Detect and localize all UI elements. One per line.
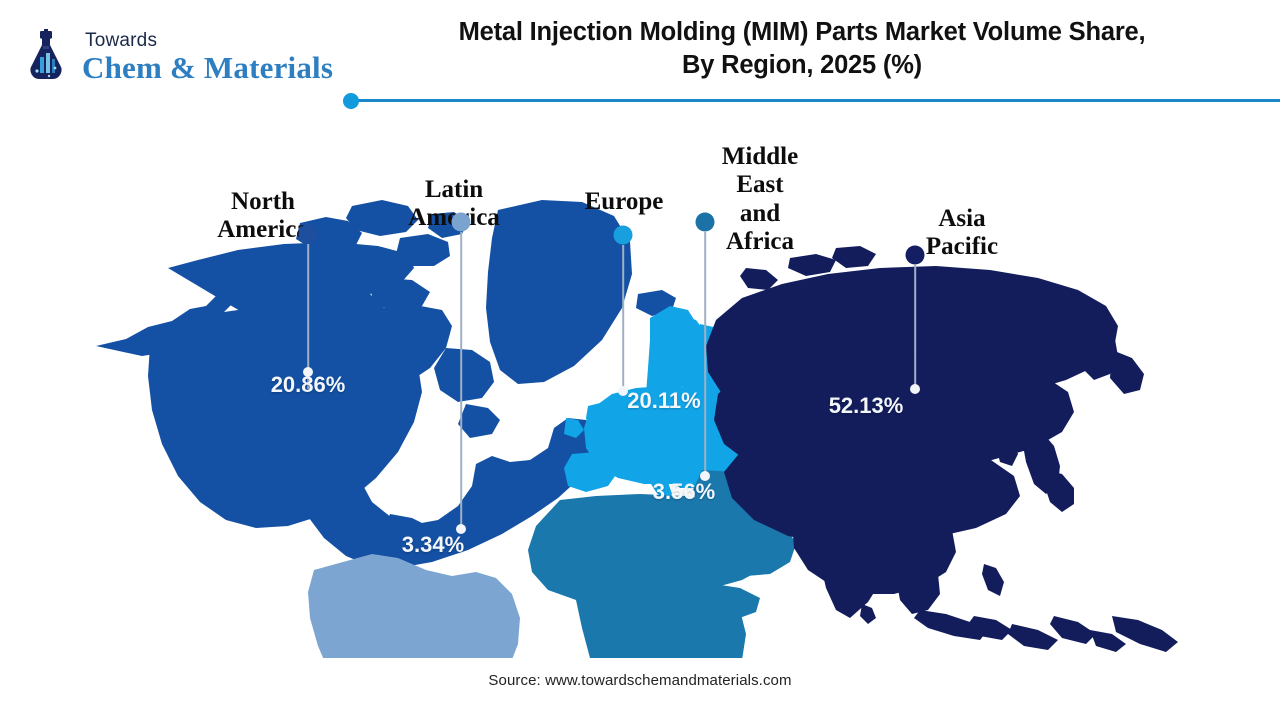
region-value-north-america: 20.86% <box>271 372 346 398</box>
infographic-canvas: Towards Chem & Materials Metal Injection… <box>0 0 1280 720</box>
page-title-line-1: Metal Injection Molding (MIM) Parts Mark… <box>459 18 1146 46</box>
title-divider-dot-icon <box>343 93 359 109</box>
region-value-asia-pacific: 52.13% <box>829 393 904 419</box>
region-marker-dot-icon-latin-america[interactable] <box>452 213 471 232</box>
page-title-line-2: By Region, 2025 (%) <box>682 51 922 79</box>
leader-line-asia-pacific <box>914 265 916 387</box>
map-region-latin-america <box>308 554 520 658</box>
source-note: Source: www.towardschemandmaterials.com <box>0 672 1280 689</box>
leader-line-tip-icon-asia-pacific <box>910 384 920 394</box>
page-title: Metal Injection Molding (MIM) Parts Mark… <box>352 16 1252 81</box>
region-label-asia-pacific: Asia Pacific <box>926 205 998 262</box>
title-divider <box>352 99 1280 102</box>
brand-name-bottom: Chem & Materials <box>82 52 333 83</box>
region-label-europe: Europe <box>585 188 664 216</box>
leader-line-europe <box>622 245 624 390</box>
region-marker-dot-icon-asia-pacific[interactable] <box>906 246 925 265</box>
map-region-asia-pacific <box>706 246 1210 658</box>
brand-name-top: Towards <box>85 31 333 50</box>
region-value-latin-america: 3.34% <box>402 532 464 558</box>
region-value-middle-east-and-africa: 3.56% <box>653 479 715 505</box>
flask-logo-icon <box>18 29 74 85</box>
brand-logo[interactable]: Towards Chem & Materials <box>18 24 338 90</box>
leader-line-latin-america <box>460 232 462 528</box>
region-marker-dot-icon-europe[interactable] <box>614 226 633 245</box>
leader-line-middle-east-and-africa <box>704 232 706 475</box>
region-marker-dot-icon-north-america[interactable] <box>299 225 318 244</box>
region-label-north-america: North America <box>217 188 309 245</box>
region-value-europe: 20.11% <box>627 388 700 414</box>
region-marker-dot-icon-middle-east-and-africa[interactable] <box>696 213 715 232</box>
region-label-middle-east-and-africa: Middle East and Africa <box>722 143 798 256</box>
